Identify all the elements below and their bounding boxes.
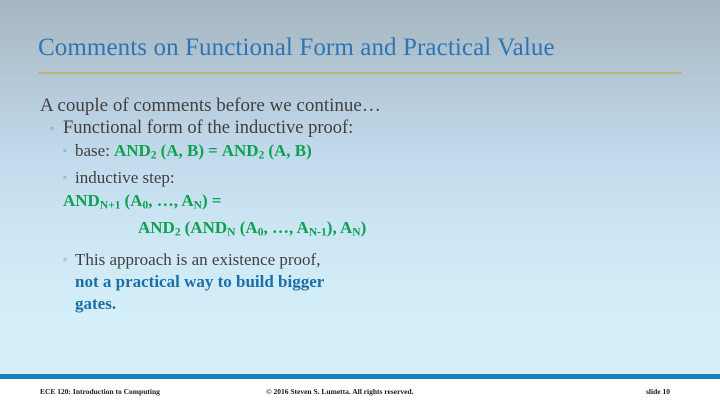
base-case-equation: AND2(A, B)=AND2(A, B): [114, 141, 312, 160]
footer-copyright: © 2016 Steven S. Lumetta. All rights res…: [266, 387, 414, 396]
arg-subscript: N: [194, 198, 202, 211]
slide-canvas: Comments on Functional Form and Practica…: [0, 0, 720, 405]
paren-close: ): [361, 218, 367, 237]
practical-note-line2: gates.: [63, 293, 720, 315]
bullet-functional-form-label: Functional form of the inductive proof:: [63, 118, 353, 138]
slide-body: A couple of comments before we continue……: [0, 94, 720, 315]
footer-slide-number: slide 10: [646, 387, 670, 396]
and-subscript: 2: [259, 149, 265, 162]
inductive-step-label: inductive step:: [75, 168, 175, 187]
bullet-circle-icon: ◦: [63, 167, 67, 189]
bullet-circle-icon: ◦: [63, 140, 67, 162]
and-args: (A, B): [268, 141, 311, 160]
bullet-inductive-step: ◦ inductive step:: [63, 167, 720, 189]
bullet-base-case: ◦ base:AND2(A, B)=AND2(A, B): [63, 140, 720, 167]
arg-subscript: N-1: [309, 226, 327, 239]
intro-text: A couple of comments before we continue…: [40, 94, 720, 117]
footer-course-label: ECE 120: Introduction to Computing: [40, 387, 160, 396]
and-subscript: 2: [151, 149, 157, 162]
practical-note-line1: not a practical way to build bigger: [63, 271, 720, 293]
and-args: (A, B): [161, 141, 204, 160]
args-close: ), A: [327, 218, 353, 237]
args-middle: , …, A: [263, 218, 308, 237]
arg-subscript: N: [352, 226, 360, 239]
args-open: (A: [235, 218, 257, 237]
base-case-label: base:: [75, 141, 110, 160]
and-token: AND: [114, 141, 151, 160]
existence-proof-text: This approach is an existence proof,: [75, 250, 320, 269]
slide-footer: ECE 120: Introduction to Computing © 201…: [0, 379, 720, 405]
bullet-circle-icon: ◦: [63, 249, 67, 271]
title-divider: [38, 72, 682, 74]
args-middle: , …, A: [148, 191, 193, 210]
math-line-recurrence-lhs: ANDN+1(A0, …, AN) =: [63, 189, 720, 217]
and-subscript: 2: [175, 226, 181, 239]
page-title: Comments on Functional Form and Practica…: [38, 33, 698, 63]
and-token: AND: [63, 191, 100, 210]
math-line-recurrence-rhs: AND2(ANDN (A0, …, AN-1), AN): [63, 216, 720, 244]
bullet-functional-form: ◦ Functional form of the inductive proof…: [50, 117, 720, 140]
and-subscript: N+1: [100, 198, 121, 211]
bullet-circle-icon: ◦: [50, 117, 54, 140]
bullet-existence-proof: ◦ This approach is an existence proof,: [63, 249, 720, 271]
and-token: AND: [190, 218, 227, 237]
args-open: (A: [125, 191, 143, 210]
equals-sign: =: [208, 141, 218, 160]
args-close: ) =: [202, 191, 222, 210]
and-token: AND: [138, 218, 175, 237]
and-token: AND: [222, 141, 259, 160]
